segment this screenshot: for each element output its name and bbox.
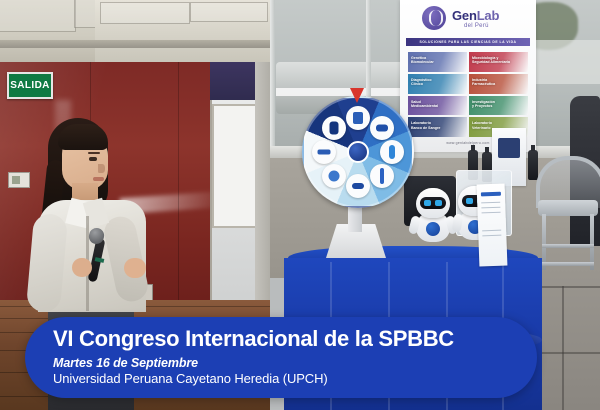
right-hand: [124, 258, 146, 278]
genlab-service-tile-label: Diagnóstico Clínico: [411, 78, 432, 87]
genlab-service-grid: Genética BiomolecularMicrobiología y Seg…: [408, 52, 528, 137]
genlab-service-tile: Genética Biomolecular: [408, 52, 467, 72]
event-venue: Universidad Peruana Cayetano Heredia (UP…: [53, 372, 521, 387]
wheel-hub: [347, 141, 369, 163]
genlab-brand-name: GenLab: [452, 8, 499, 23]
genlab-service-tile: Diagnóstico Clínico: [408, 74, 467, 94]
chair-seat: [538, 200, 598, 216]
eye: [89, 157, 97, 161]
wheel-segment-icon: [370, 164, 394, 188]
wheel-segment-icon: [380, 140, 404, 164]
caption-banner: VI Congreso Internacional de la SPBBC Ma…: [25, 317, 537, 398]
genlab-service-tile-label: Laboratorio Veterinario: [472, 121, 492, 130]
exit-sign: SALIDA: [7, 72, 53, 99]
wheel-segment-icon: [370, 116, 394, 140]
ceiling-beam: [0, 40, 270, 48]
nose: [98, 164, 105, 173]
wall-thermostat: [8, 172, 30, 188]
bus-stripe: [276, 88, 411, 96]
mouth: [93, 177, 104, 181]
genlab-service-tile: Salud Medioambiental: [408, 96, 467, 116]
genlab-service-tile-label: Investigación y Proyectos: [472, 100, 495, 109]
product-bottle: [528, 150, 538, 180]
genlab-service-tile: Microbiología y Seguridad Alimentaria: [469, 52, 528, 72]
event-title: VI Congreso Internacional de la SPBBC: [53, 327, 521, 351]
ceiling-tile: [0, 0, 76, 32]
eyebrow: [88, 152, 100, 154]
wheel-segment-icon: [346, 174, 370, 198]
wall-column: [255, 62, 270, 307]
genlab-service-tile-label: Microbiología y Seguridad Alimentaria: [472, 56, 510, 65]
genlab-brand-subtitle: del Perú: [464, 23, 489, 29]
genlab-service-tile-label: Laboratorio Banco de Sangre: [411, 121, 440, 130]
genlab-service-tile: Industria Farmacéutica: [469, 74, 528, 94]
hair-front: [58, 124, 108, 150]
left-hand: [72, 258, 92, 277]
genlab-service-tile-label: Salud Medioambiental: [411, 100, 438, 109]
genlab-tagline-bar: SOLUCIONES PARA LAS CIENCIAS DE LA VIDA: [406, 38, 530, 46]
screenshot-canvas: SALIDA: [0, 0, 600, 410]
wheel-segment-icon: [322, 116, 346, 140]
wheel-pointer-icon: [350, 88, 364, 103]
genlab-tagline: SOLUCIONES PARA LAS CIENCIAS DE LA VIDA: [420, 40, 517, 44]
ceiling-tile: [190, 2, 268, 22]
genlab-service-tile-label: Genética Biomolecular: [411, 56, 434, 65]
brochure: [477, 184, 508, 267]
wheel-segment-icon: [346, 106, 370, 130]
wheel-segment-icon: [312, 140, 336, 164]
genlab-logo-icon: [422, 6, 446, 30]
ceiling-tile: [100, 2, 190, 24]
wheel-segment-icon: [322, 164, 346, 188]
exit-sign-label: SALIDA: [10, 81, 50, 91]
genlab-service-tile: Laboratorio Banco de Sangre: [408, 117, 467, 137]
event-date: Martes 16 de Septiembre: [53, 356, 521, 370]
wall-seam: [178, 62, 179, 302]
genlab-service-tile-label: Industria Farmacéutica: [472, 78, 495, 87]
genlab-service-tile: Investigación y Proyectos: [469, 96, 528, 116]
